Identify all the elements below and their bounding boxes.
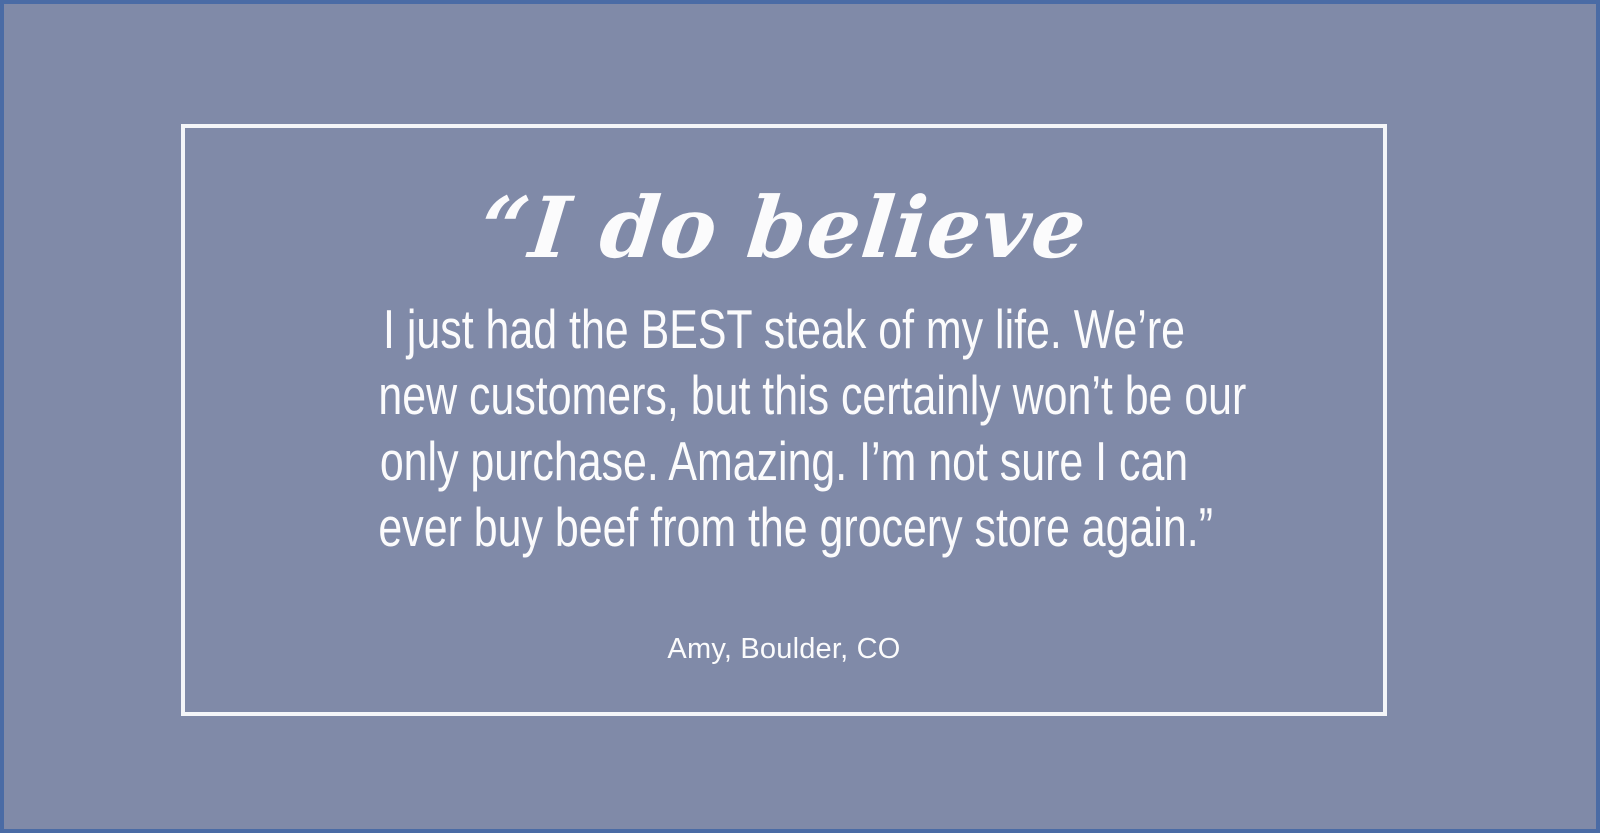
quote-body: I just had the BEST steak of my life. We… (378, 296, 1189, 560)
quote-frame-border: “I do believe I just had the BEST steak … (181, 124, 1387, 716)
quote-line: only purchase. Amazing. I’m not sure I c… (378, 428, 1189, 494)
attribution: Amy, Boulder, CO (667, 634, 900, 666)
headline-script: “I do believe (477, 186, 1091, 270)
quote-line: I just had the BEST steak of my life. We… (378, 296, 1189, 362)
quote-line: new customers, but this certainly won’t … (378, 362, 1189, 428)
quote-line: ever buy beef from the grocery store aga… (378, 494, 1189, 560)
testimonial-card: “I do believe I just had the BEST steak … (0, 0, 1600, 833)
